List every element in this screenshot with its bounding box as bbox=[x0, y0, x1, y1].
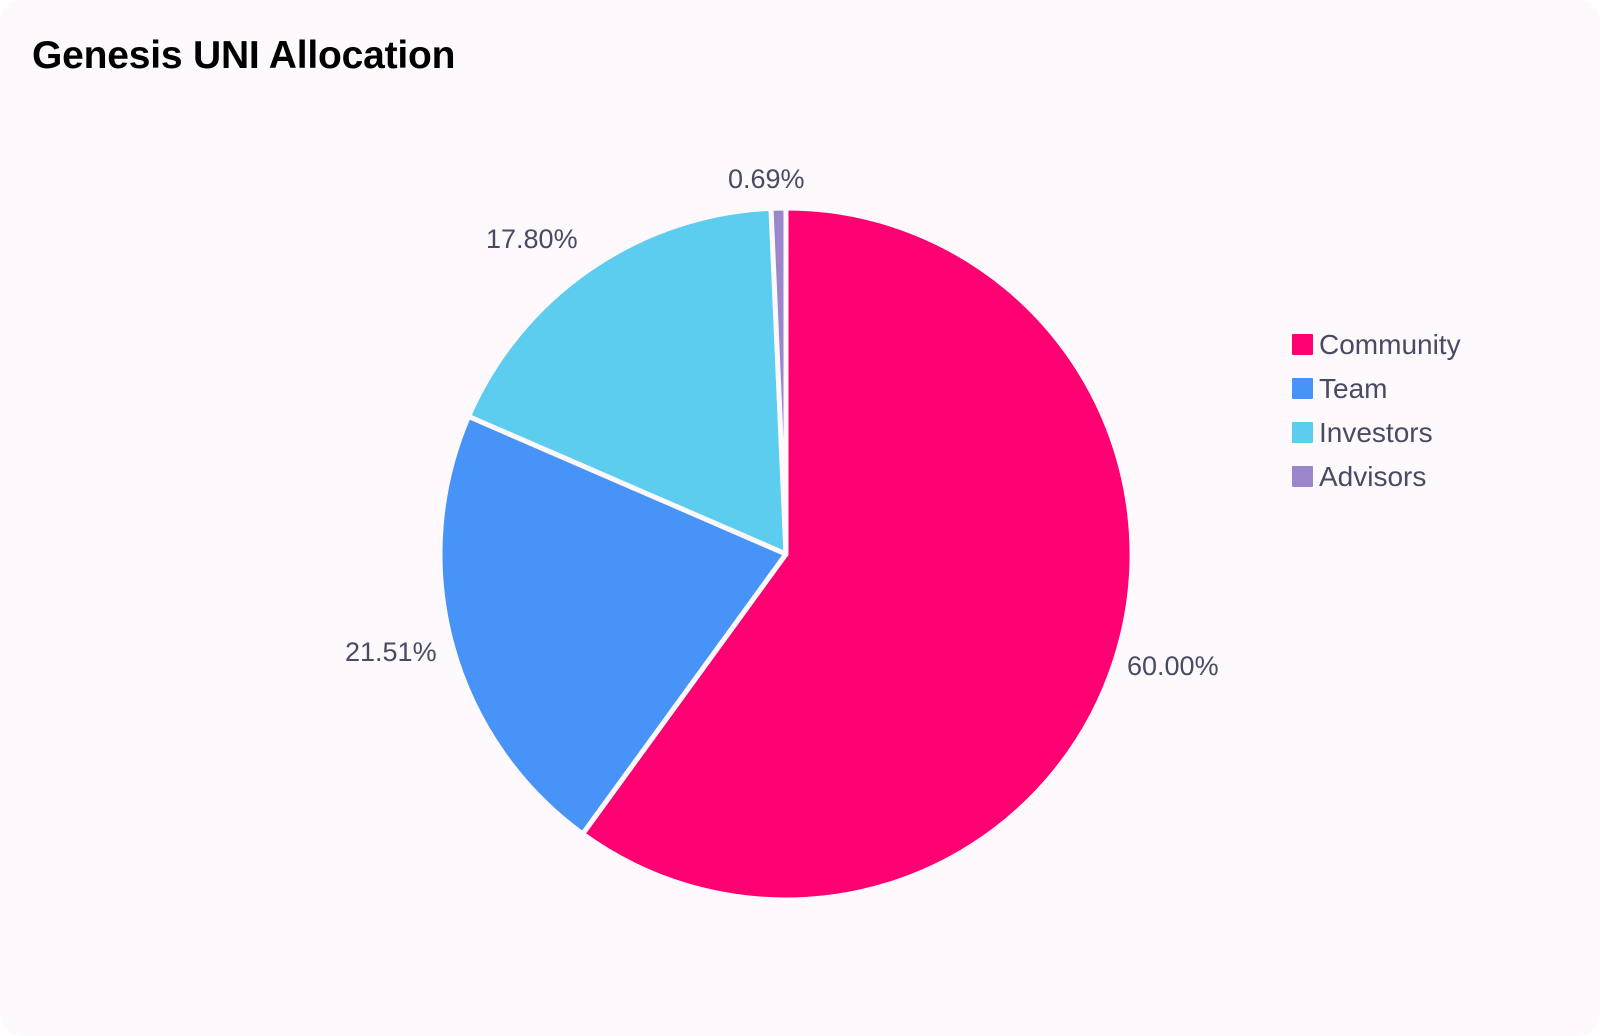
slice-percentage-label: 21.51% bbox=[345, 637, 437, 668]
legend-item-label: Community bbox=[1319, 330, 1461, 359]
chart-card: Genesis UNI Allocation 60.00%21.51%17.80… bbox=[0, 0, 1600, 1036]
pie-chart: 60.00%21.51%17.80%0.69% bbox=[0, 0, 1600, 1036]
legend-swatch-icon bbox=[1292, 466, 1313, 487]
legend-item[interactable]: Team bbox=[1292, 374, 1461, 403]
legend-item-label: Team bbox=[1319, 374, 1387, 403]
legend-swatch-icon bbox=[1292, 334, 1313, 355]
legend-swatch-icon bbox=[1292, 422, 1313, 443]
slice-percentage-label: 0.69% bbox=[728, 164, 805, 195]
legend-item-label: Investors bbox=[1319, 418, 1433, 447]
pie-chart-svg bbox=[0, 0, 1600, 1036]
legend-swatch-icon bbox=[1292, 378, 1313, 399]
slice-percentage-label: 60.00% bbox=[1127, 651, 1219, 682]
chart-legend: CommunityTeamInvestorsAdvisors bbox=[1292, 330, 1461, 491]
legend-item[interactable]: Investors bbox=[1292, 418, 1461, 447]
legend-item[interactable]: Community bbox=[1292, 330, 1461, 359]
legend-item[interactable]: Advisors bbox=[1292, 462, 1461, 491]
legend-item-label: Advisors bbox=[1319, 462, 1426, 491]
slice-percentage-label: 17.80% bbox=[486, 224, 578, 255]
